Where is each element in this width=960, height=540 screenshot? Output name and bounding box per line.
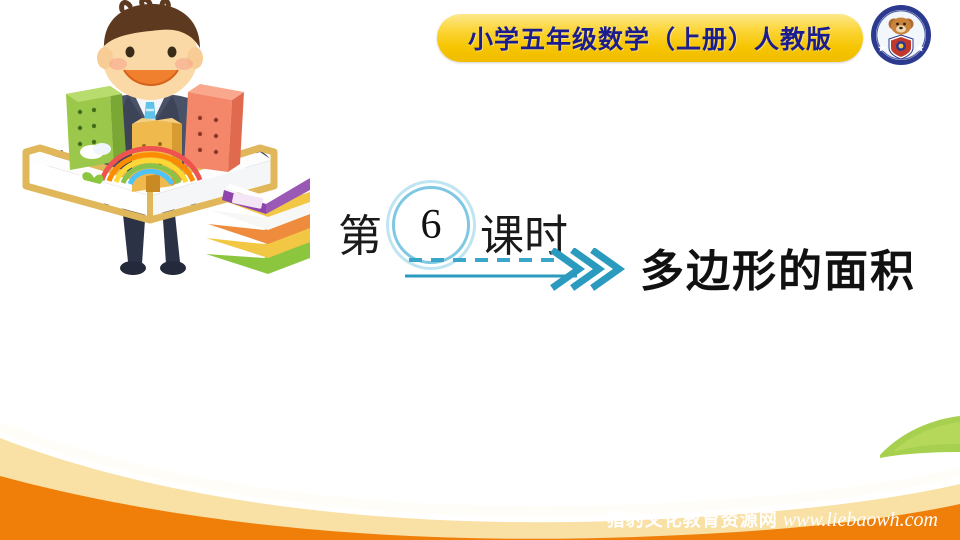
footer-site-url: www.liebaowh.com [783,509,938,531]
course-banner: 小学五年级数学（上册）人教版 [437,14,863,62]
page-title: 多边形的面积 [640,235,916,299]
school-mascot-badge-logo [870,4,932,66]
footer-site-name: 猎豹文化教育资源网 [607,510,778,530]
dashed-arrow-icon [405,248,635,292]
lesson-prefix-label: 第 [338,200,382,264]
footer-credit: 猎豹文化教育资源网www.liebaowh.com [0,506,960,532]
boy-with-popup-book-illustration [10,0,310,300]
lesson-number-label: 6 [421,204,442,246]
slide-canvas: 小学五年级数学（上册）人教版 [0,0,960,540]
course-banner-label: 小学五年级数学（上册）人教版 [468,20,832,56]
